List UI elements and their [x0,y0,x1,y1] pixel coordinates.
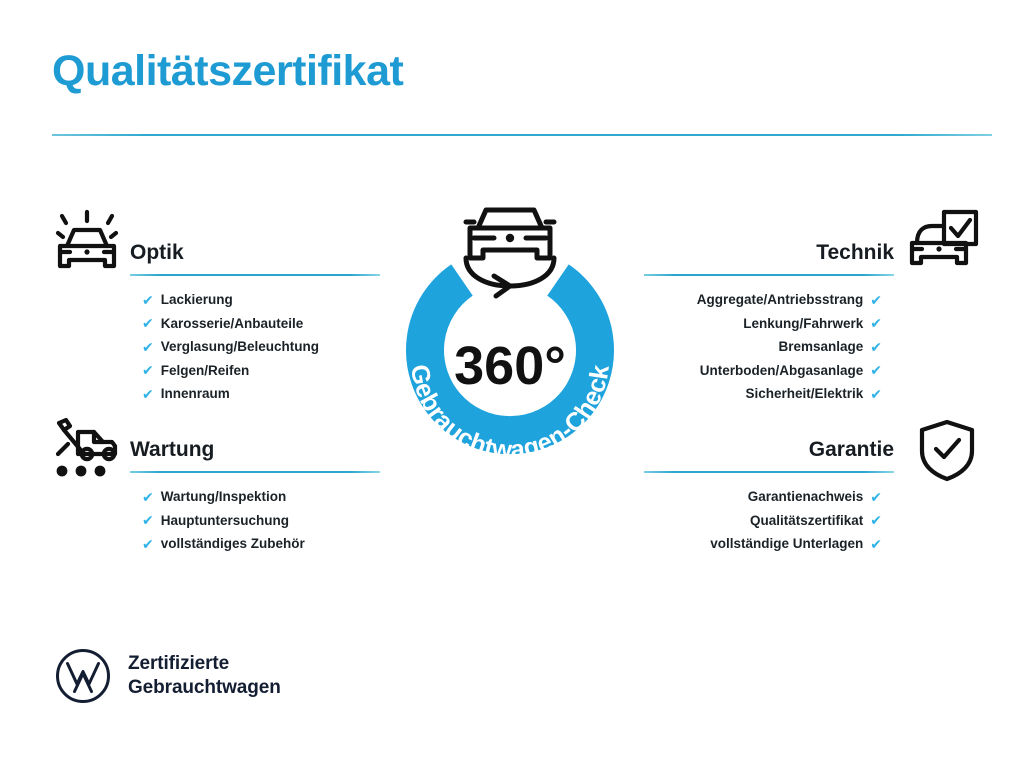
title-divider [52,134,992,136]
badge-value: 360° [454,336,566,396]
car-checkbox-icon [908,208,980,276]
vw-footer: Zertifizierte Gebrauchtwagen [55,648,281,704]
list-item: vollständige Unterlagen✔ [644,532,882,556]
section-optik-divider [130,274,380,276]
section-optik: Optik ✔Lackierung ✔Karosserie/Anbauteile… [130,238,380,406]
list-item: Garantienachweis✔ [644,485,882,509]
check-icon: ✔ [142,293,154,307]
list-item-label: Felgen/Reifen [161,359,250,383]
section-wartung-header: Wartung [130,435,380,473]
list-item-label: Karosserie/Anbauteile [161,312,304,336]
list-item: ✔Lackierung [142,288,380,312]
check-icon: ✔ [870,316,882,330]
vw-footer-line2: Gebrauchtwagen [128,676,281,700]
list-item: ✔Wartung/Inspektion [142,485,380,509]
list-item-label: Wartung/Inspektion [161,485,287,509]
check-icon: ✔ [142,363,154,377]
list-item: Lenkung/Fahrwerk✔ [644,312,882,336]
section-technik: Technik Aggregate/Antriebsstrang✔ Lenkun… [644,238,894,406]
list-item-label: Unterboden/Abgasanlage [700,359,864,383]
list-item: ✔Hauptuntersuchung [142,509,380,533]
vw-footer-line1: Zertifizierte [128,652,281,676]
section-wartung: Wartung ✔Wartung/Inspektion ✔Hauptunters… [130,435,380,556]
list-item-label: Qualitätszertifikat [750,509,863,533]
center-badge-360: Gebrauchtwagen-Check 360° [374,196,646,496]
list-item-label: vollständige Unterlagen [710,532,863,556]
list-item: Qualitätszertifikat✔ [644,509,882,533]
list-item-label: Bremsanlage [778,335,863,359]
vw-logo [55,648,111,704]
list-item: ✔Karosserie/Anbauteile [142,312,380,336]
check-icon: ✔ [870,513,882,527]
section-technik-header: Technik [644,238,894,276]
list-item-label: Lackierung [161,288,233,312]
page-title: Qualitätszertifikat [52,48,403,95]
list-item-label: Verglasung/Beleuchtung [161,335,319,359]
list-item: Unterboden/Abgasanlage✔ [644,359,882,383]
check-icon: ✔ [142,340,154,354]
list-item-label: Innenraum [161,382,230,406]
section-garantie-header: Garantie [644,435,894,473]
list-item-label: Aggregate/Antriebsstrang [697,288,864,312]
list-item: ✔vollständiges Zubehör [142,532,380,556]
list-item: ✔Verglasung/Beleuchtung [142,335,380,359]
section-wartung-list: ✔Wartung/Inspektion ✔Hauptuntersuchung ✔… [130,473,380,556]
section-technik-divider [644,274,894,276]
list-item-label: Hauptuntersuchung [161,509,289,533]
list-item-label: Sicherheit/Elektrik [745,382,863,406]
section-optik-list: ✔Lackierung ✔Karosserie/Anbauteile ✔Verg… [130,276,380,406]
check-icon: ✔ [142,490,154,504]
check-icon: ✔ [142,316,154,330]
section-optik-header: Optik [130,238,380,276]
section-garantie-list: Garantienachweis✔ Qualitätszertifikat✔ v… [644,473,894,556]
car-rotate-360-icon [466,210,554,296]
list-item: Sicherheit/Elektrik✔ [644,382,882,406]
list-item-label: Lenkung/Fahrwerk [743,312,863,336]
check-icon: ✔ [870,363,882,377]
car-lift-wrench-icon [48,416,126,480]
list-item: ✔Innenraum [142,382,380,406]
check-icon: ✔ [142,387,154,401]
section-technik-title: Technik [644,238,894,268]
section-wartung-title: Wartung [130,435,380,465]
list-item: Bremsanlage✔ [644,335,882,359]
shield-check-icon [916,418,978,482]
section-technik-list: Aggregate/Antriebsstrang✔ Lenkung/Fahrwe… [644,276,894,406]
list-item-label: vollständiges Zubehör [161,532,305,556]
check-icon: ✔ [870,340,882,354]
check-icon: ✔ [870,387,882,401]
check-icon: ✔ [870,537,882,551]
check-icon: ✔ [142,513,154,527]
section-garantie-title: Garantie [644,435,894,465]
check-icon: ✔ [870,293,882,307]
section-optik-title: Optik [130,238,380,268]
list-item-label: Garantienachweis [748,485,864,509]
vw-footer-text: Zertifizierte Gebrauchtwagen [128,652,281,700]
check-icon: ✔ [142,537,154,551]
list-item: ✔Felgen/Reifen [142,359,380,383]
list-item: Aggregate/Antriebsstrang✔ [644,288,882,312]
section-garantie: Garantie Garantienachweis✔ Qualitätszert… [644,435,894,556]
certificate-page: Qualitätszertifikat Optik ✔Lackierung ✔K… [0,0,1024,768]
section-wartung-divider [130,471,380,473]
section-garantie-divider [644,471,894,473]
car-shine-icon [48,206,126,278]
check-icon: ✔ [870,490,882,504]
